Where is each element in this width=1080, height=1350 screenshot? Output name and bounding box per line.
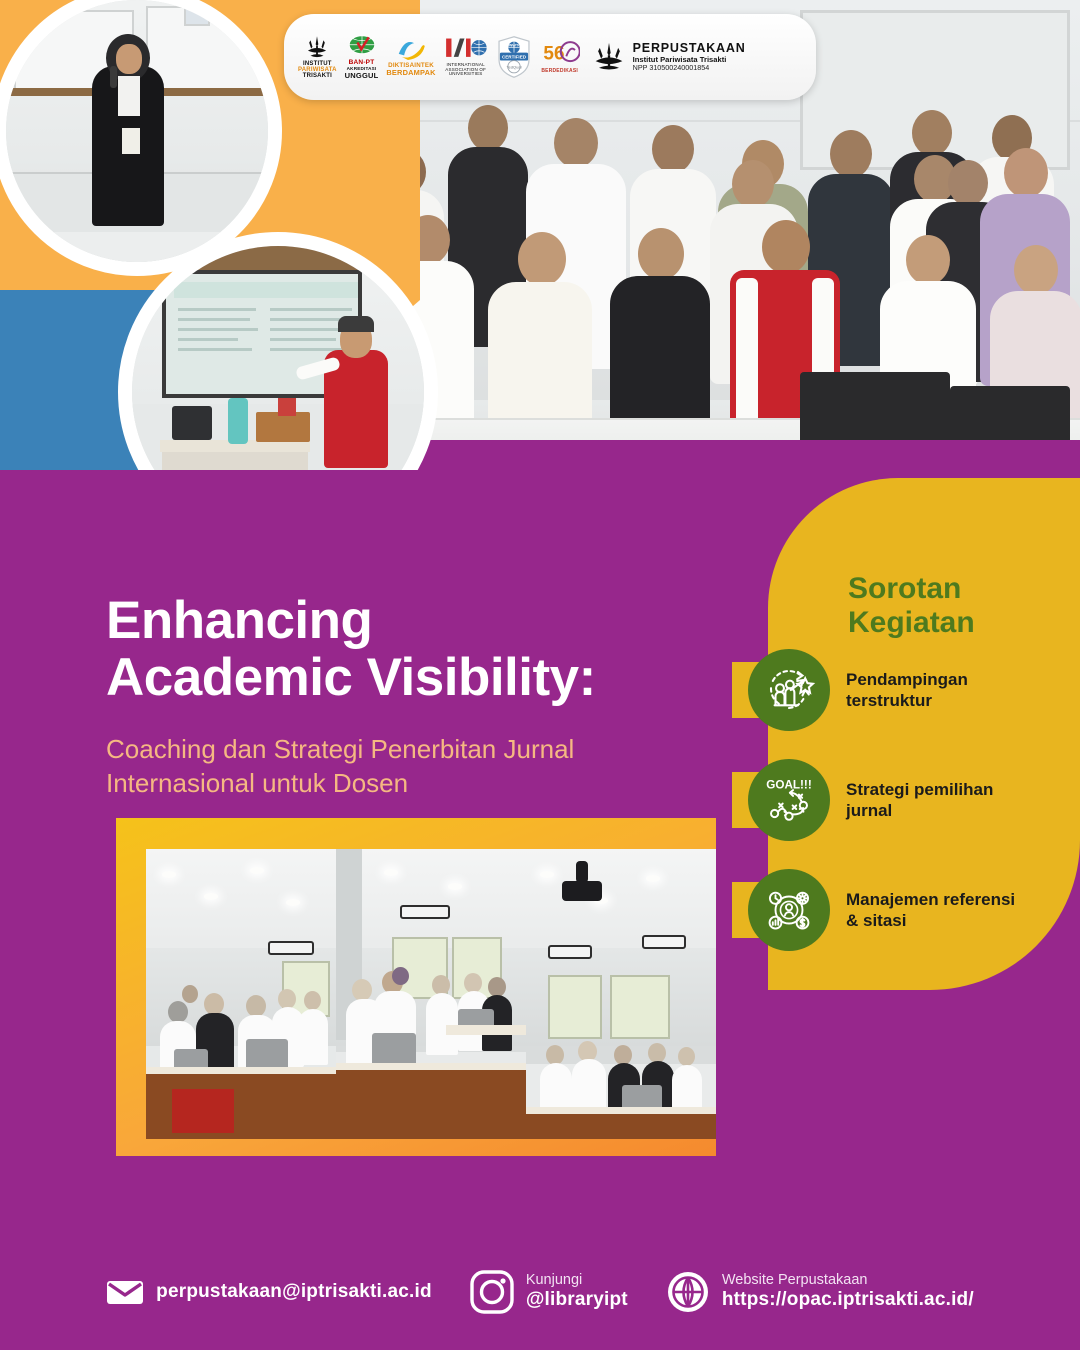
institut-pariwisata-trisakti-logo: INSTITUT PARIWISATA TRISAKTI [298,35,337,80]
perpustakaan-npp: NPP 310500240001854 [633,64,746,72]
highlights-heading: Sorotan Kegiatan [848,572,1078,639]
perpustakaan-trident-icon [592,42,626,72]
unwto-certified-text: CERTIFIED [502,55,527,60]
photo-collage-frame [116,818,716,1156]
subtitle-line-1: Coaching dan Strategi Penerbitan Jurnal [106,733,706,767]
diktisaintek-swoosh-icon [394,37,428,63]
trisakti-trident-icon [304,35,330,61]
globe-icon [666,1270,710,1314]
mentoring-growth-icon [748,649,830,731]
highlights-heading-line1: Sorotan [848,572,1078,606]
unwto-tedqual-certified-logo: CERTIFIED UNWTO TedQual [496,35,532,79]
subtitle-line-2: Internasional untuk Dosen [106,767,706,801]
56-tahun-berdedikasi-logo: 56 BERDEDIKASI [540,39,580,74]
photo-collage [146,849,716,1139]
anniversary-56-icon: 56 [540,39,580,69]
page-title: Enhancing Academic Visibility: [106,592,746,706]
footer-instagram-handle: @libraryipt [526,1289,628,1312]
unwto-text: UNWTO [506,42,521,47]
perpustakaan-title: PERPUSTAKAAN [633,41,746,55]
footer-instagram[interactable]: Kunjungi @libraryipt [470,1270,628,1314]
footer-email-text: perpustakaan@iptrisakti.ac.id [156,1281,432,1303]
reference-management-icon [748,869,830,951]
footer-email[interactable]: perpustakaan@iptrisakti.ac.id [106,1278,432,1306]
page-subtitle: Coaching dan Strategi Penerbitan Jurnal … [106,733,706,801]
highlights-heading-line2: Kegiatan [848,606,1078,640]
perpustakaan-branding: PERPUSTAKAAN Institut Pariwisata Trisakt… [592,41,746,72]
iau-mark-icon [444,37,488,63]
diktisaintek-berdampak-logo: DIKTISAINTEK BERDAMPAK [386,37,435,77]
svg-text:GOAL!!!: GOAL!!! [766,778,811,791]
highlight-item-3[interactable]: Manajemen referensi & sitasi [748,858,1078,962]
institution-logo-bar: INSTITUT PARIWISATA TRISAKTI BAN-PT AKRE… [284,14,816,100]
footer-instagram-label: Kunjungi [526,1272,628,1289]
logo-line-2: BERDEDIKASI [541,69,578,74]
top-media-area: INSTITUT PARIWISATA TRISAKTI BAN-PT AKRE… [0,0,1080,470]
ban-pt-akreditasi-unggul-logo: BAN-PT AKREDITASI UNGGUL [345,34,379,80]
poster-canvas: INSTITUT PARIWISATA TRISAKTI BAN-PT AKRE… [0,0,1080,1350]
logo-line-1: INSTITUT [298,61,337,67]
unwto-shield-icon: CERTIFIED UNWTO TedQual [496,35,532,79]
collage-photo-3 [526,849,716,1139]
highlight-label-2: Strategi pemilihan jurnal [846,779,1026,822]
footer-website-label: Website Perpustakaan [722,1272,974,1289]
instagram-icon [470,1270,514,1314]
logo-line-3: UNGGUL [345,72,379,80]
highlight-label-3: Manajemen referensi & sitasi [846,889,1026,932]
logo-line-2: BERDAMPAK [386,69,435,77]
footer-website-url: https://opac.iptrisakti.ac.id/ [722,1289,974,1312]
logo-line-3: TRISAKTI [298,73,337,79]
presenter-photo-circle [118,232,438,470]
highlight-item-2[interactable]: GOAL!!! Strategi pemilihan jurnal [748,748,1078,852]
ban-pt-globe-icon [347,34,377,60]
footer-website[interactable]: Website Perpustakaan https://opac.iptris… [666,1270,974,1314]
logo-line-3: UNIVERSITIES [445,72,486,77]
collage-photo-2 [336,849,526,1139]
international-association-of-universities-logo: INTERNATIONAL ASSOCIATION OF UNIVERSITIE… [444,37,488,77]
goal-strategy-icon: GOAL!!! [748,759,830,841]
highlight-item-1[interactable]: Pendampingan terstruktur [748,638,1078,742]
speaker-photo-circle [0,0,282,276]
title-line-1: Enhancing [106,592,746,649]
envelope-icon [106,1278,144,1306]
footer-contact-bar: perpustakaan@iptrisakti.ac.id Kunjungi @… [0,1234,1080,1350]
purple-band [330,440,1080,470]
tedqual-text: TedQual [506,64,521,69]
title-line-2: Academic Visibility: [106,649,746,706]
highlight-label-1: Pendampingan terstruktur [846,669,1026,712]
collage-photo-1 [146,849,336,1139]
